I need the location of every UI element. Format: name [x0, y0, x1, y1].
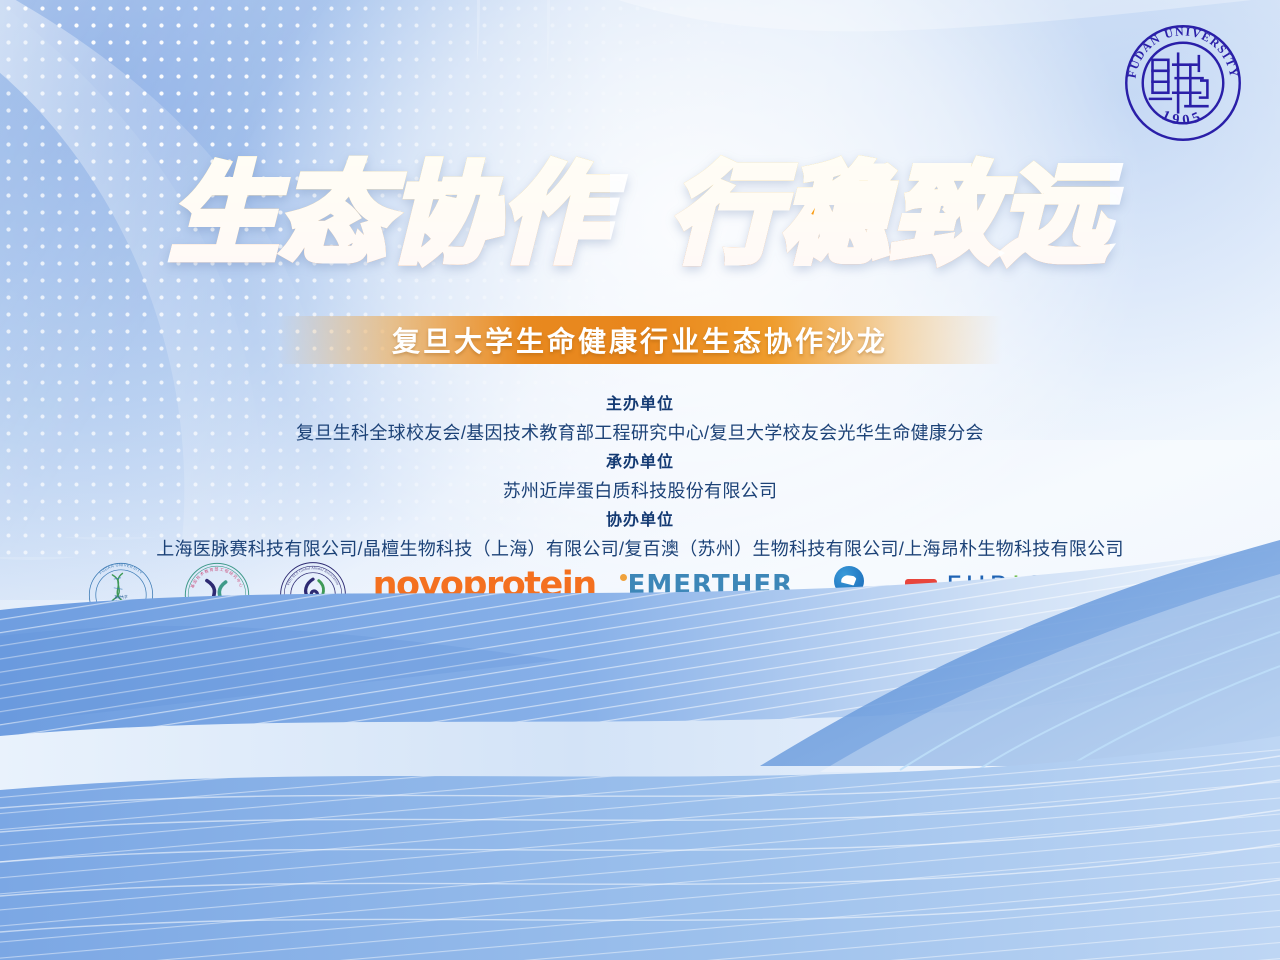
headline-left: 生态协作 — [170, 150, 610, 282]
subtitle-text: 复旦大学生命健康行业生态协作沙龙 — [392, 320, 888, 360]
poster-canvas: FUDAN UNIVERSITY 1905 生态协作 行稳致远 复旦大学生命健康… — [0, 0, 1280, 960]
credit-org-list: 复旦生科全球校友会/基因技术教育部工程研究中心/复旦大学校友会光华生命健康分会 — [0, 418, 1280, 448]
headline: 生态协作 行稳致远 — [0, 150, 1280, 282]
fudan-university-emblem: FUDAN UNIVERSITY 1905 — [1122, 22, 1244, 144]
credit-role-label: 主办单位 — [0, 392, 1280, 418]
headline-right: 行稳致远 — [670, 150, 1110, 282]
credit-host: 承办单位 苏州近岸蛋白质科技股份有限公司 — [0, 450, 1280, 506]
bottom-ribbon-decoration — [0, 540, 1280, 960]
svg-text:FUDAN UNIVERSITY: FUDAN UNIVERSITY — [1125, 24, 1242, 79]
credit-role-label: 承办单位 — [0, 450, 1280, 476]
credit-org-list: 苏州近岸蛋白质科技股份有限公司 — [0, 476, 1280, 506]
svg-text:1905: 1905 — [1159, 108, 1207, 129]
subtitle-bar: 复旦大学生命健康行业生态协作沙龙 — [278, 316, 1002, 364]
credit-role-label: 协办单位 — [0, 508, 1280, 534]
credit-organizer: 主办单位 复旦生科全球校友会/基因技术教育部工程研究中心/复旦大学校友会光华生命… — [0, 392, 1280, 448]
